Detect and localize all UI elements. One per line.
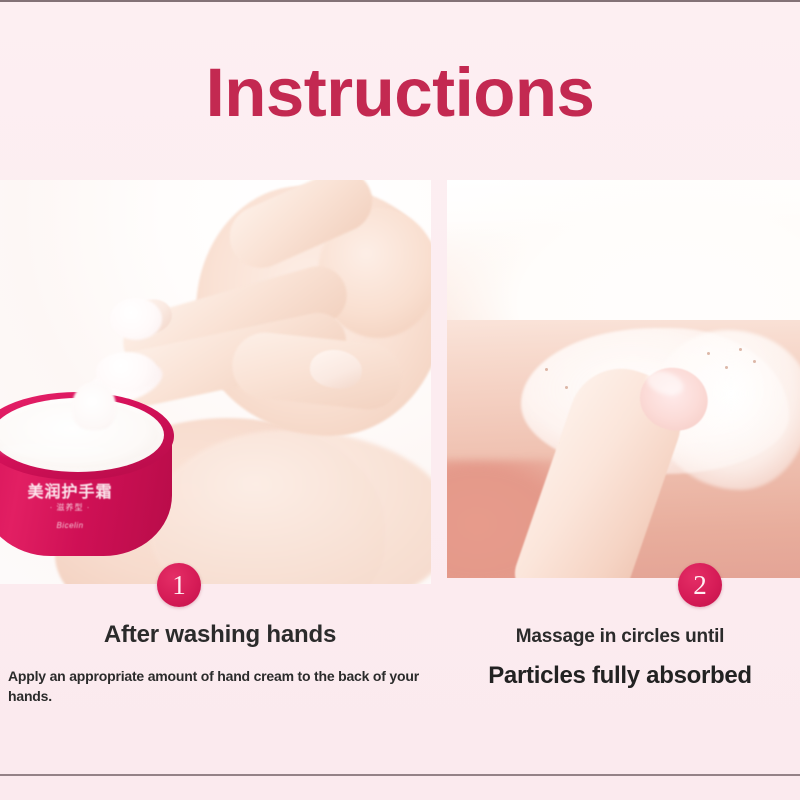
cream-particle	[739, 348, 742, 351]
page-title-container: Instructions	[0, 56, 800, 130]
jar-label-primary: 美润护手霜	[0, 484, 140, 502]
step-2-caption-main: Massage in circles until	[440, 624, 800, 650]
cream-particle	[565, 386, 568, 389]
hand-cream-jar: 美润护手霜 · 滋养型 · Bicelin	[0, 376, 172, 560]
skin-highlight	[447, 180, 800, 320]
step-2-badge: 2	[678, 563, 722, 607]
cream-particle	[753, 360, 756, 363]
step-1-caption-sub: Apply an appropriate amount of hand crea…	[8, 666, 428, 706]
jar-cream-scoop	[72, 382, 116, 430]
step-2-photo	[447, 180, 800, 578]
cream-blob	[110, 298, 162, 340]
cream-particle	[545, 368, 548, 371]
step-1-photo-panel: 美润护手霜 · 滋养型 · Bicelin	[0, 180, 431, 584]
step-1-caption-main: After washing hands	[0, 620, 440, 650]
step-2-caption-sub: Particles fully absorbed	[440, 660, 800, 692]
page-title: Instructions	[0, 56, 800, 130]
jar-brand-mark: Bicelin	[0, 521, 140, 530]
jar-label-secondary: · 滋养型 ·	[0, 502, 140, 514]
step-1-photo: 美润护手霜 · 滋养型 · Bicelin	[0, 180, 431, 584]
bottom-divider-rule	[0, 774, 800, 776]
step-2-photo-panel	[447, 180, 800, 578]
steps-photo-row: 美润护手霜 · 滋养型 · Bicelin	[0, 180, 800, 586]
cream-particle	[707, 352, 710, 355]
step-1-caption-block: After washing hands	[0, 620, 440, 650]
cream-particle	[725, 366, 728, 369]
jar-label: 美润护手霜 · 滋养型 · Bicelin	[0, 484, 140, 530]
step-1-badge: 1	[157, 563, 201, 607]
jar-highlight	[0, 442, 108, 458]
instructions-page: Instructions	[0, 0, 800, 800]
top-divider-rule	[0, 0, 800, 2]
